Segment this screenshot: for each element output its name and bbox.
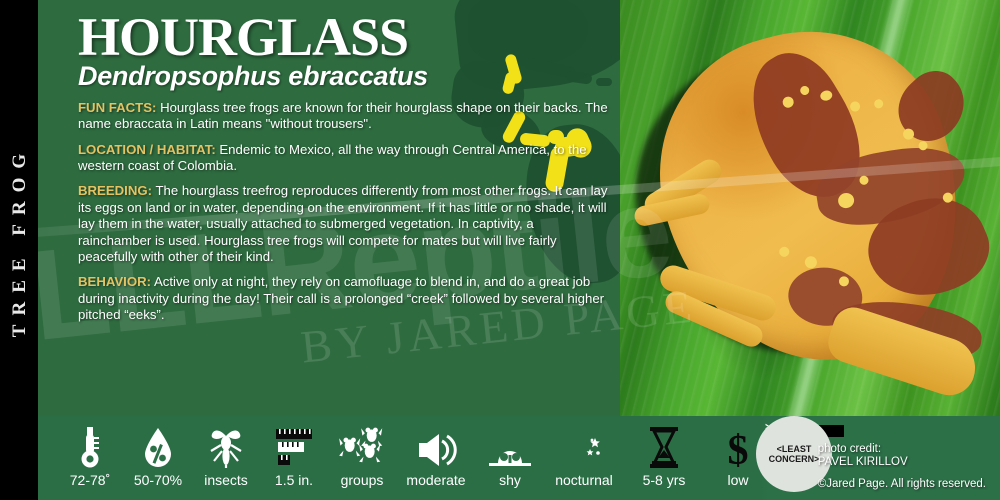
frog-group-icon xyxy=(339,425,385,469)
section-behavior: BEHAVIOR: Active only at night, they rel… xyxy=(78,274,608,323)
insect-icon xyxy=(209,425,243,469)
thermometer-icon xyxy=(77,425,103,469)
stat-caption: 72-78˚ xyxy=(70,472,110,488)
moon-stars-icon xyxy=(563,425,605,469)
frog-marking xyxy=(885,60,978,153)
dollar-sign-icon: $ xyxy=(725,425,751,469)
hourglass-icon xyxy=(647,425,681,469)
scientific-name: Dendropsophus ebraccatus xyxy=(78,62,608,91)
stat-caption: 5-8 yrs xyxy=(643,472,686,488)
section-body: Active only at night, they rely on camof… xyxy=(78,274,604,322)
section-label: BEHAVIOR: xyxy=(78,274,151,289)
section-body: The hourglass treefrog reproduces differ… xyxy=(78,183,607,263)
stat-caption: shy xyxy=(499,472,521,488)
stat-caption: 1.5 in. xyxy=(275,472,313,488)
stat-lifespan: 5-8 yrs xyxy=(624,425,704,500)
hourglass-tree-frog-image xyxy=(632,28,992,428)
stat-temperature: 72-78˚ xyxy=(56,425,124,500)
frog-spot xyxy=(778,246,790,258)
stat-size: 1.5 in. xyxy=(260,425,328,500)
stat-caption: low xyxy=(727,472,748,488)
humidity-drop-icon xyxy=(143,425,173,469)
stat-caption: nocturnal xyxy=(555,472,613,488)
conservation-line-1: <LEAST xyxy=(777,444,812,454)
copyright-notice: ©Jared Page. All rights reserved. xyxy=(818,478,986,492)
photo-credit-label: photo credit: xyxy=(818,443,986,457)
stat-activity: nocturnal xyxy=(544,425,624,500)
section-breeding: BREEDING: The hourglass treefrog reprodu… xyxy=(78,183,608,265)
page-title: HOURGLASS xyxy=(78,12,608,64)
stat-caption: moderate xyxy=(406,472,465,488)
stat-caption: 50-70% xyxy=(134,472,182,488)
hiding-frog-icon xyxy=(488,425,532,469)
section-fun-facts: FUN FACTS: Hourglass tree frogs are know… xyxy=(78,100,608,133)
conservation-line-2: CONCERN> xyxy=(769,454,820,464)
frog-spot xyxy=(873,98,884,109)
stat-vocalization: moderate xyxy=(396,425,476,500)
stat-caption: groups xyxy=(341,472,384,488)
stat-social: groups xyxy=(328,425,396,500)
svg-text:$: $ xyxy=(728,428,749,469)
photo-credit: photo credit: PAVEL KIRILLOV ©Jared Page… xyxy=(818,443,986,492)
spine-label: TREE FROG xyxy=(9,21,31,461)
section-label: BREEDING: xyxy=(78,183,152,198)
spine-bar: TREE FROG xyxy=(0,0,38,500)
stat-temperament: shy xyxy=(476,425,544,500)
section-label: FUN FACTS: xyxy=(78,100,156,115)
species-care-card: LLLReptile BY JARED PAGE TREE FROG HOURG… xyxy=(0,0,1000,500)
care-stats-list: 72-78˚ 50-70% xyxy=(38,425,850,500)
stat-diet: insects xyxy=(192,425,260,500)
photo-credit-name: PAVEL KIRILLOV xyxy=(818,456,986,470)
card-text-content: HOURGLASS Dendropsophus ebraccatus FUN F… xyxy=(78,12,608,323)
section-label: LOCATION / HABITAT: xyxy=(78,142,216,157)
speaker-icon xyxy=(415,425,457,469)
stat-humidity: 50-70% xyxy=(124,425,192,500)
stat-caption: insects xyxy=(204,472,248,488)
section-body: Hourglass tree frogs are known for their… xyxy=(78,100,608,131)
frog-spot xyxy=(849,100,861,112)
ruler-icon xyxy=(273,425,315,469)
section-location-habitat: LOCATION / HABITAT: Endemic to Mexico, a… xyxy=(78,142,608,175)
